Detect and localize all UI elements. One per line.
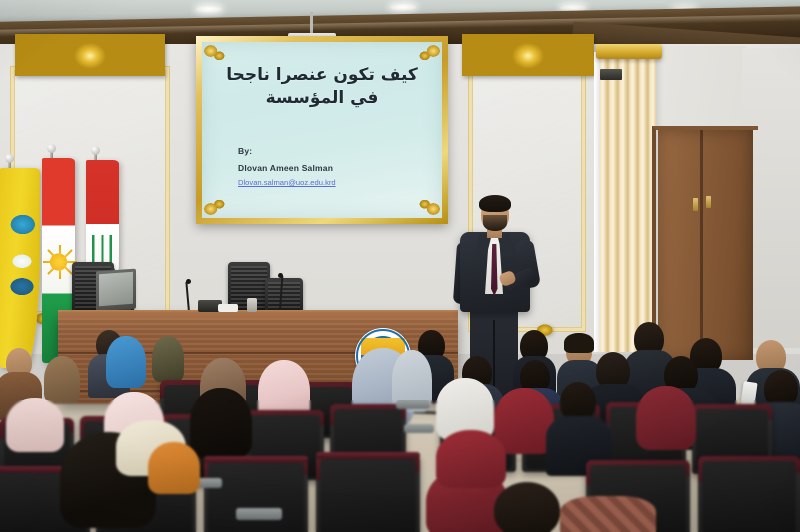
auditorium-seat[interactable] [698, 456, 800, 532]
laptop-screen [99, 272, 133, 306]
desk-item-cup [247, 298, 257, 312]
door-split [700, 130, 703, 360]
presenter-beard [483, 215, 507, 231]
frame-corner-ornament [202, 42, 225, 62]
seat-armrest [404, 424, 434, 433]
attendee-head [494, 482, 560, 532]
attendee-hair [564, 333, 594, 353]
flag-finial [5, 154, 14, 163]
slide-title-arabic: كيف تكون عنصرا ناجحا في المؤسسة [210, 64, 434, 111]
microphone-head-icon [278, 273, 283, 278]
frame-corner-ornament [202, 198, 225, 218]
slide-presenter-email: Dlovan.salman@uoz.edu.krd [238, 178, 336, 187]
slide-presenter-name: Dlovan Ameen Salman [238, 163, 333, 173]
attendee-hijab [44, 356, 80, 404]
presenter-hair [479, 195, 511, 212]
fluted-pilaster [600, 52, 656, 352]
ceiling-light [196, 5, 222, 13]
lecture-hall-photo: كيف تكون عنصرا ناجحا في المؤسسة By: Dlov… [0, 0, 800, 532]
presenter-tie [491, 244, 498, 296]
door-handle-icon[interactable] [706, 196, 711, 208]
wooden-door[interactable] [658, 130, 753, 360]
pilaster-capital [596, 44, 662, 59]
flag-finial [91, 146, 100, 155]
slide-surface: كيف تكون عنصرا ناجحا في المؤسسة By: Dlov… [202, 42, 442, 218]
kurdistan-sun-icon [44, 245, 73, 279]
seat-back-rail [204, 456, 308, 463]
attendee-hijab [152, 336, 184, 382]
flag-finial [47, 144, 56, 153]
attendee-hijab [636, 386, 696, 450]
frame-corner-ornament [419, 198, 442, 218]
attendee-hijab [494, 388, 554, 454]
seat-armrest [236, 508, 282, 520]
gold-screen-frame: كيف تكون عنصرا ناجحا في المؤسسة By: Dlov… [196, 36, 448, 224]
desk-item-papers [218, 304, 238, 312]
slide-by-label: By: [238, 146, 252, 156]
attendee-hijab [190, 388, 252, 458]
seat-back-rail [316, 452, 420, 459]
university-flag-emblem [2, 190, 42, 305]
gold-crest-ornament [462, 34, 594, 76]
auditorium-seat[interactable] [316, 454, 420, 532]
ceiling-light [390, 3, 416, 11]
attendee-hijab [436, 430, 506, 488]
gold-crest-ornament [15, 34, 165, 76]
projection-screen: كيف تكون عنصرا ناجحا في المؤسسة By: Dlov… [196, 36, 448, 224]
seat-armrest [396, 400, 430, 409]
attendee-hijab [106, 336, 146, 388]
attendee-hijab [148, 442, 200, 494]
attendee-body [560, 496, 656, 532]
door-handle-icon[interactable] [693, 198, 698, 211]
frame-corner-ornament [419, 42, 442, 62]
microphone-head-icon [186, 279, 191, 284]
projector-vent [600, 69, 622, 80]
auditorium-seat[interactable] [204, 458, 308, 532]
attendee-hijab [6, 398, 64, 452]
